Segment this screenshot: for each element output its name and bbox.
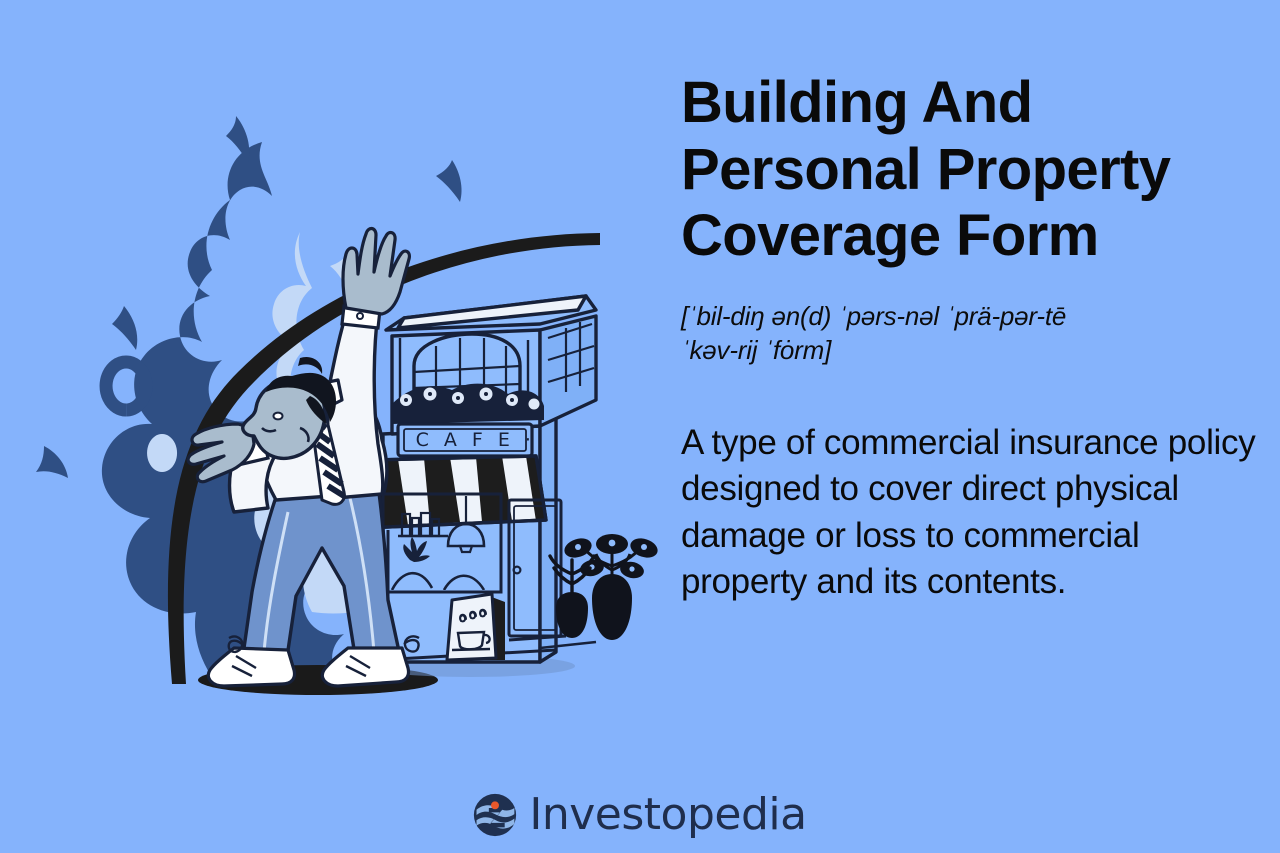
flame-flick-lower-left <box>36 446 68 478</box>
cafe-sign: · C A F E · <box>395 424 536 456</box>
phonetic-pronunciation: [ˈbil-diŋ ən(d) ˈpərs-nəl ˈprä-pər-tē ˈk… <box>681 300 1261 368</box>
shoe-right <box>322 648 408 686</box>
text-column: Building And Personal Property Coverage … <box>681 70 1261 641</box>
hand-raised <box>343 228 409 314</box>
eye <box>274 413 283 420</box>
plant-vase-large <box>592 574 632 640</box>
brand-logo[interactable]: Investopedia <box>0 793 1280 837</box>
infographic-card: · C A F E · <box>0 0 1280 853</box>
sandwich-board-sign <box>447 594 505 660</box>
flame-ring-left <box>106 362 146 410</box>
page-title: Building And Personal Property Coverage … <box>681 70 1261 270</box>
investopedia-logo-icon <box>473 793 517 837</box>
hair-bun <box>298 357 322 374</box>
flame-flick-left <box>112 306 137 350</box>
flame-flick-right <box>436 160 462 202</box>
potted-plants <box>550 534 660 640</box>
flame-hole <box>147 434 177 472</box>
definition-text: A type of commercial insurance policy de… <box>681 420 1261 606</box>
brand-name: Investopedia <box>529 793 806 837</box>
illustration: · C A F E · <box>0 0 660 790</box>
flame-flick-top <box>226 116 249 162</box>
cafe-sign-text: · C A F E · <box>395 429 536 451</box>
building-side <box>540 412 556 662</box>
